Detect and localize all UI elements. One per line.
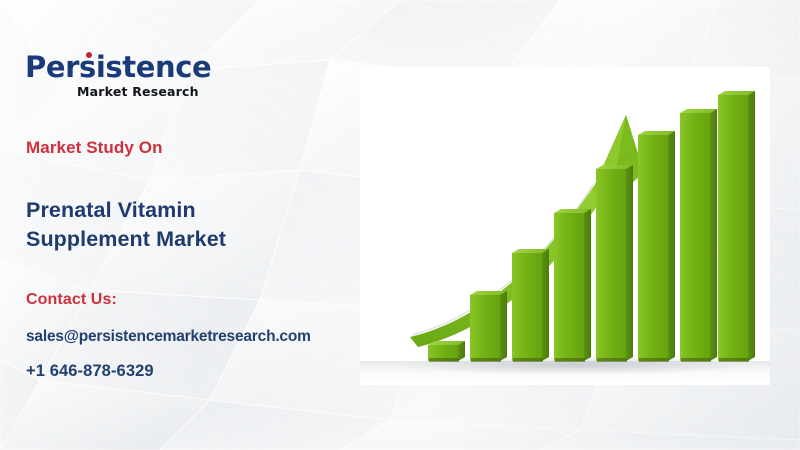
eyebrow-text: Market Study On [26,138,163,158]
brand-logo-dot-icon [86,52,92,58]
page-title: Prenatal Vitamin Supplement Market [26,196,226,253]
brand-logo[interactable]: Persistence Market Research [25,53,211,99]
contact-phone-link[interactable]: +1 646-878-6329 [26,362,154,381]
chart-image-panel [360,67,770,385]
brand-logo-wordmark: Persistence [25,53,211,82]
brand-logo-tagline: Market Research [77,84,211,99]
contact-email-link[interactable]: sales@persistencemarketresearch.com [26,328,311,346]
growth-bar-chart [360,67,770,385]
contact-heading: Contact Us: [26,291,117,309]
chart-container [360,67,770,385]
banner-canvas: Persistence Market Research Market Study… [0,0,800,450]
left-content-column: Persistence Market Research Market Study… [0,0,352,450]
